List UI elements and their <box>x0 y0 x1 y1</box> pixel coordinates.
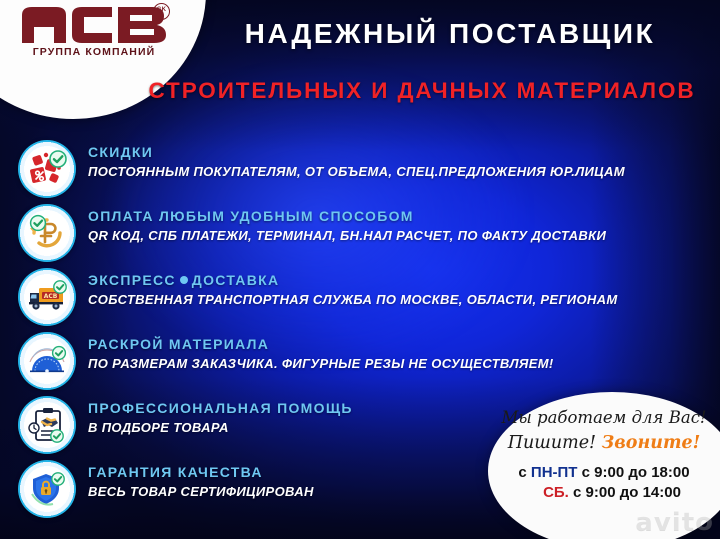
feature-item-delivery: ACB <box>16 266 708 330</box>
feature-title: СКИДКИ <box>88 144 708 160</box>
bullet-dot-icon <box>180 276 188 284</box>
callout-call-label: Звоните! <box>602 433 701 453</box>
hours-weekday-time: с 9:00 до 18:00 <box>582 464 690 481</box>
saw-blade-icon <box>18 332 78 390</box>
headline-secondary: СТРОИТЕЛЬНЫХ И ДАЧНЫХ МАТЕРИАЛОВ <box>130 78 714 104</box>
logo-mark-acb: GK <box>20 5 168 45</box>
shield-lock-icon <box>18 460 78 518</box>
feature-item-discounts: СКИДКИ ПОСТОЯННЫМ ПОКУПАТЕЛЯМ, ОТ ОБЪЕМА… <box>16 138 708 202</box>
hours-saturday-time: с 9:00 до 14:00 <box>573 484 681 501</box>
feature-subtitle: СОБСТВЕННАЯ ТРАНСПОРТНАЯ СЛУЖБА ПО МОСКВ… <box>88 292 708 307</box>
feature-title-part-a: ЭКСПРЕСС <box>88 272 176 288</box>
callout-slogan: Мы работаем для Вас! <box>496 408 712 427</box>
clipboard-handshake-icon <box>18 396 78 454</box>
feature-item-payment: ОПЛАТА ЛЮБЫМ УДОБНЫМ СПОСОБОМ QR КОД, СП… <box>16 202 708 266</box>
feature-title: ЭКСПРЕССДОСТАВКА <box>88 272 708 288</box>
hours-weekday: с ПН-ПТ с 9:00 до 18:00 <box>496 464 712 481</box>
headline-primary: НАДЕЖНЫЙ ПОСТАВЩИК <box>190 18 710 50</box>
hours-saturday-days: СБ. <box>543 484 569 501</box>
svg-text:ACB: ACB <box>44 293 58 300</box>
feature-item-cutting: РАСКРОЙ МАТЕРИАЛА ПО РАЗМЕРАМ ЗАКАЗЧИКА.… <box>16 330 708 394</box>
callout-cta: Пишите! Звоните! <box>496 433 712 453</box>
hours-saturday: СБ. с 9:00 до 14:00 <box>496 484 712 501</box>
feature-title: ОПЛАТА ЛЮБЫМ УДОБНЫМ СПОСОБОМ <box>88 208 708 224</box>
feature-subtitle: ПО РАЗМЕРАМ ЗАКАЗЧИКА. ФИГУРНЫЕ РЕЗЫ НЕ … <box>88 356 708 371</box>
hours-weekday-prefix: с <box>518 464 526 481</box>
delivery-truck-icon: ACB <box>18 268 78 326</box>
acb-letters-icon <box>20 5 168 45</box>
logo-subtitle: ГРУППА КОМПАНИЙ <box>14 46 174 58</box>
callout-write-label: Пишите! <box>508 433 596 453</box>
company-logo: GK ГРУППА КОМПАНИЙ <box>14 5 174 67</box>
feature-subtitle: ПОСТОЯННЫМ ПОКУПАТЕЛЯМ, ОТ ОБЪЕМА, СПЕЦ.… <box>88 164 708 179</box>
hours-weekday-days: ПН-ПТ <box>531 464 578 481</box>
feature-title-part-b: ДОСТАВКА <box>192 272 280 288</box>
avito-watermark: avito <box>635 507 714 537</box>
feature-title: РАСКРОЙ МАТЕРИАЛА <box>88 336 708 352</box>
logo-gk-badge: GK <box>153 3 170 20</box>
feature-subtitle: QR КОД, СПБ ПЛАТЕЖИ, ТЕРМИНАЛ, БН.НАЛ РА… <box>88 228 708 243</box>
discount-tags-icon <box>18 140 78 198</box>
ruble-payment-icon <box>18 204 78 262</box>
advertising-banner: GK ГРУППА КОМПАНИЙ НАДЕЖНЫЙ ПОСТАВЩИК СТ… <box>0 0 720 539</box>
